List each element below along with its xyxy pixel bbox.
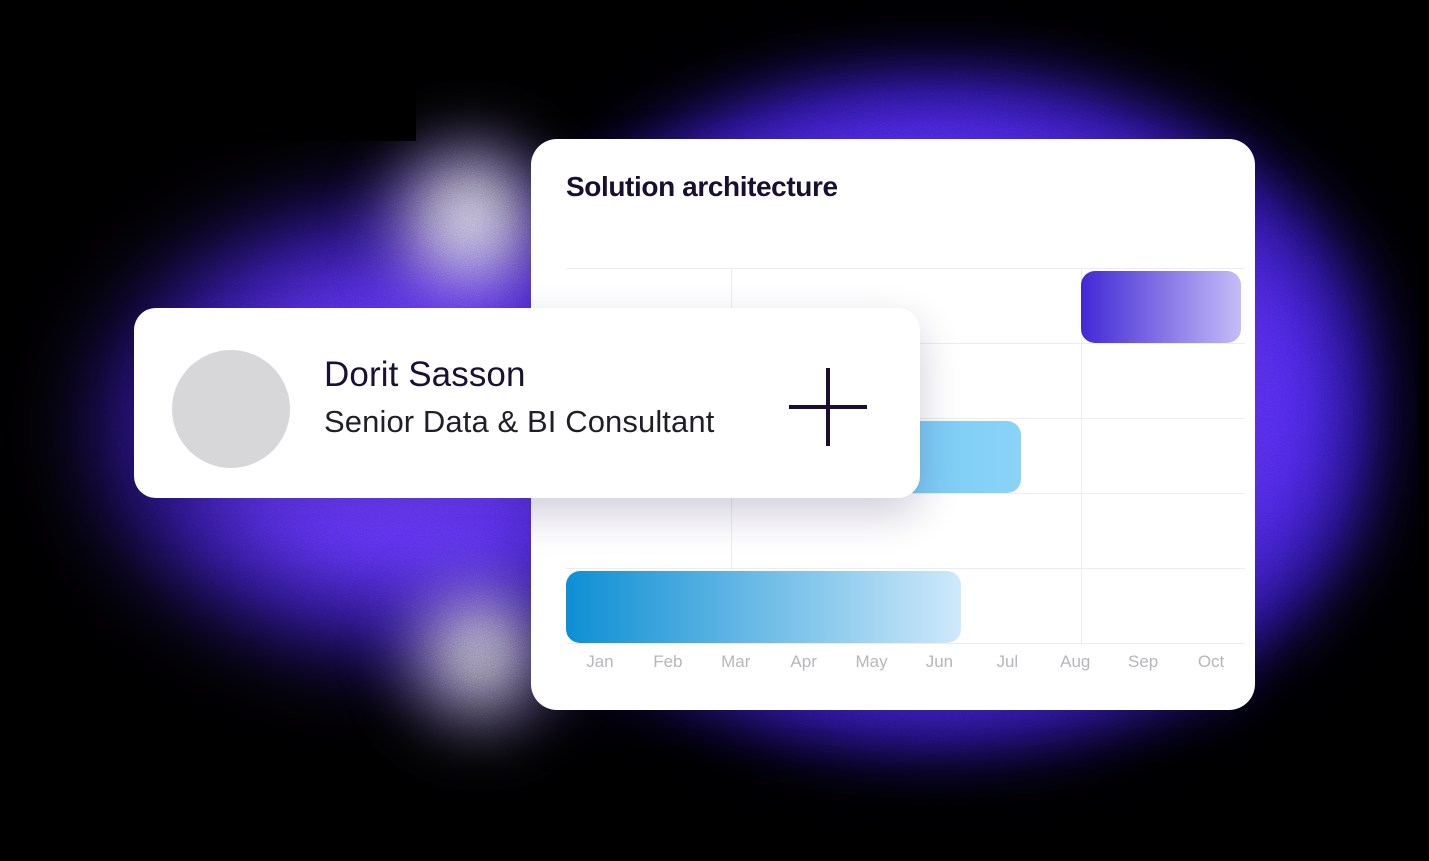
consultant-role: Senior Data & BI Consultant bbox=[324, 404, 714, 440]
axis-tick-label: Jul bbox=[996, 652, 1018, 672]
month-axis: JanFebMarAprMayJunJulAugSepOct bbox=[566, 652, 1245, 678]
gridline-horizontal bbox=[566, 268, 1245, 269]
axis-tick-label: Jun bbox=[926, 652, 953, 672]
plus-icon-vertical-stroke bbox=[826, 368, 830, 446]
consultant-name: Dorit Sasson bbox=[324, 355, 526, 395]
screenshot-stage: Solution architecture JanFebMarAprMayJun… bbox=[0, 0, 1429, 861]
consultant-card[interactable]: Dorit Sasson Senior Data & BI Consultant bbox=[134, 308, 920, 498]
plus-icon[interactable] bbox=[789, 368, 867, 446]
axis-tick-label: Sep bbox=[1128, 652, 1158, 672]
axis-tick-label: Aug bbox=[1060, 652, 1090, 672]
axis-tick-label: Apr bbox=[790, 652, 816, 672]
chart-bar[interactable] bbox=[566, 571, 961, 643]
page-title: Solution architecture bbox=[566, 171, 838, 203]
background-mask-right bbox=[1419, 0, 1429, 861]
gridline-horizontal bbox=[566, 568, 1245, 569]
axis-tick-label: Oct bbox=[1198, 652, 1224, 672]
axis-tick-label: Feb bbox=[653, 652, 682, 672]
chart-bar[interactable] bbox=[1081, 271, 1241, 343]
gridline-horizontal bbox=[566, 643, 1245, 644]
axis-tick-label: Jan bbox=[586, 652, 613, 672]
axis-tick-label: Mar bbox=[721, 652, 750, 672]
background-mask-left bbox=[0, 0, 8, 861]
axis-tick-label: May bbox=[855, 652, 887, 672]
avatar bbox=[172, 350, 290, 468]
background-mask-top bbox=[0, 0, 416, 141]
